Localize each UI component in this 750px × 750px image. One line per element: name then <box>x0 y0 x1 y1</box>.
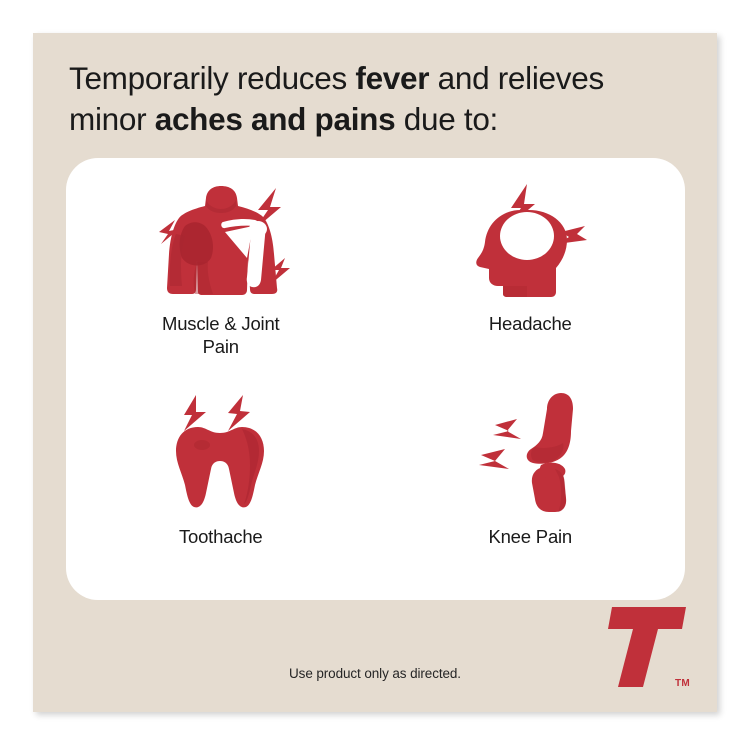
molar-tooth-icon <box>158 393 283 511</box>
symptom-label: Muscle & Joint Pain <box>162 312 280 358</box>
beige-background-panel: Temporarily reduces fever and relieves m… <box>33 33 717 712</box>
symptom-label: Knee Pain <box>488 525 572 548</box>
trademark-symbol: TM <box>675 678 690 689</box>
symptoms-grid: Muscle & Joint Pain <box>66 158 685 600</box>
symptoms-card: Muscle & Joint Pain <box>66 158 685 600</box>
page-title: Temporarily reduces fever and relieves m… <box>69 58 684 140</box>
knee-joint-bones-icon <box>465 393 595 511</box>
advertisement-panel: Temporarily reduces fever and relieves m… <box>0 0 750 750</box>
symptom-label: Toothache <box>179 525 263 548</box>
heading-fever-emphasis: fever <box>355 60 429 96</box>
heading-line2-text: minor <box>69 101 155 137</box>
head-profile-icon <box>465 180 595 298</box>
symptom-label: Headache <box>489 312 572 335</box>
heading-line1-text: Temporarily reduces <box>69 60 355 96</box>
torso-shoulder-joint-icon <box>135 180 307 298</box>
symptom-item-knee-pain: Knee Pain <box>376 379 686 600</box>
heading-line1-tail: and relieves <box>429 60 604 96</box>
heading-line2-tail: due to: <box>395 101 498 137</box>
symptom-item-toothache: Toothache <box>66 379 376 600</box>
brand-logo: TM <box>602 601 692 693</box>
heading-aches-emphasis: aches and pains <box>155 101 396 137</box>
symptom-item-headache: Headache <box>376 158 686 379</box>
symptom-item-muscle-joint-pain: Muscle & Joint Pain <box>66 158 376 379</box>
